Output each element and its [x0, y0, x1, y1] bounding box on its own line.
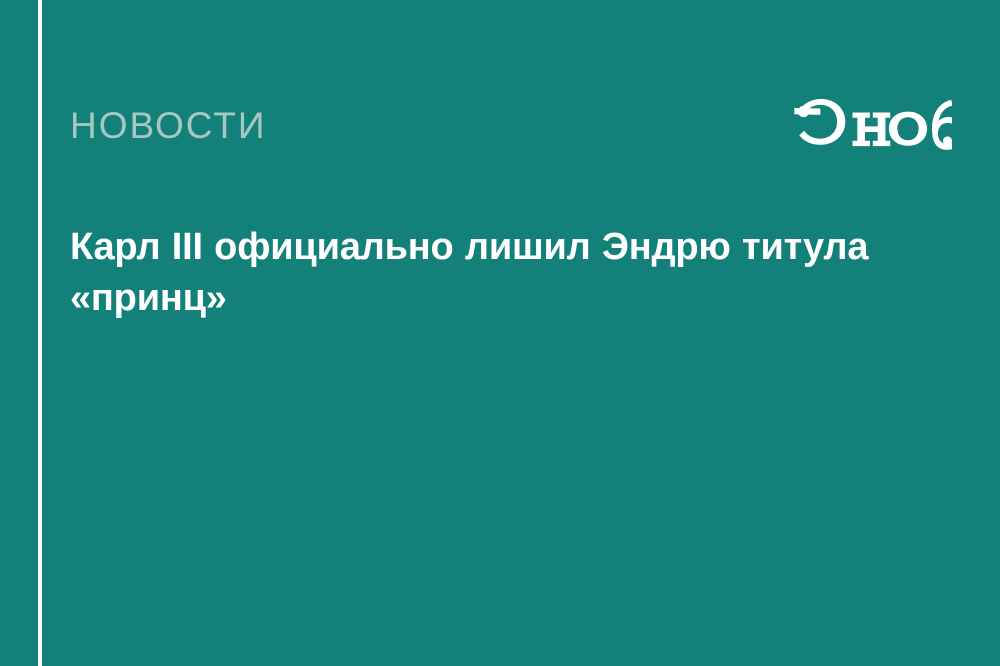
snob-logo-icon — [792, 92, 952, 156]
card-header: НОВОСТИ Сноб. — [0, 0, 1000, 200]
snob-logo[interactable]: Сноб. — [792, 92, 952, 156]
section-kicker: НОВОСТИ — [70, 104, 266, 148]
news-card: НОВОСТИ Сноб. Карл III официально лишил … — [0, 0, 1000, 666]
headline-line-2: «принц» — [70, 273, 950, 324]
headline: Карл III официально лишил Эндрю титула «… — [70, 222, 950, 324]
headline-line-1: Карл III официально лишил Эндрю титула — [70, 222, 950, 273]
